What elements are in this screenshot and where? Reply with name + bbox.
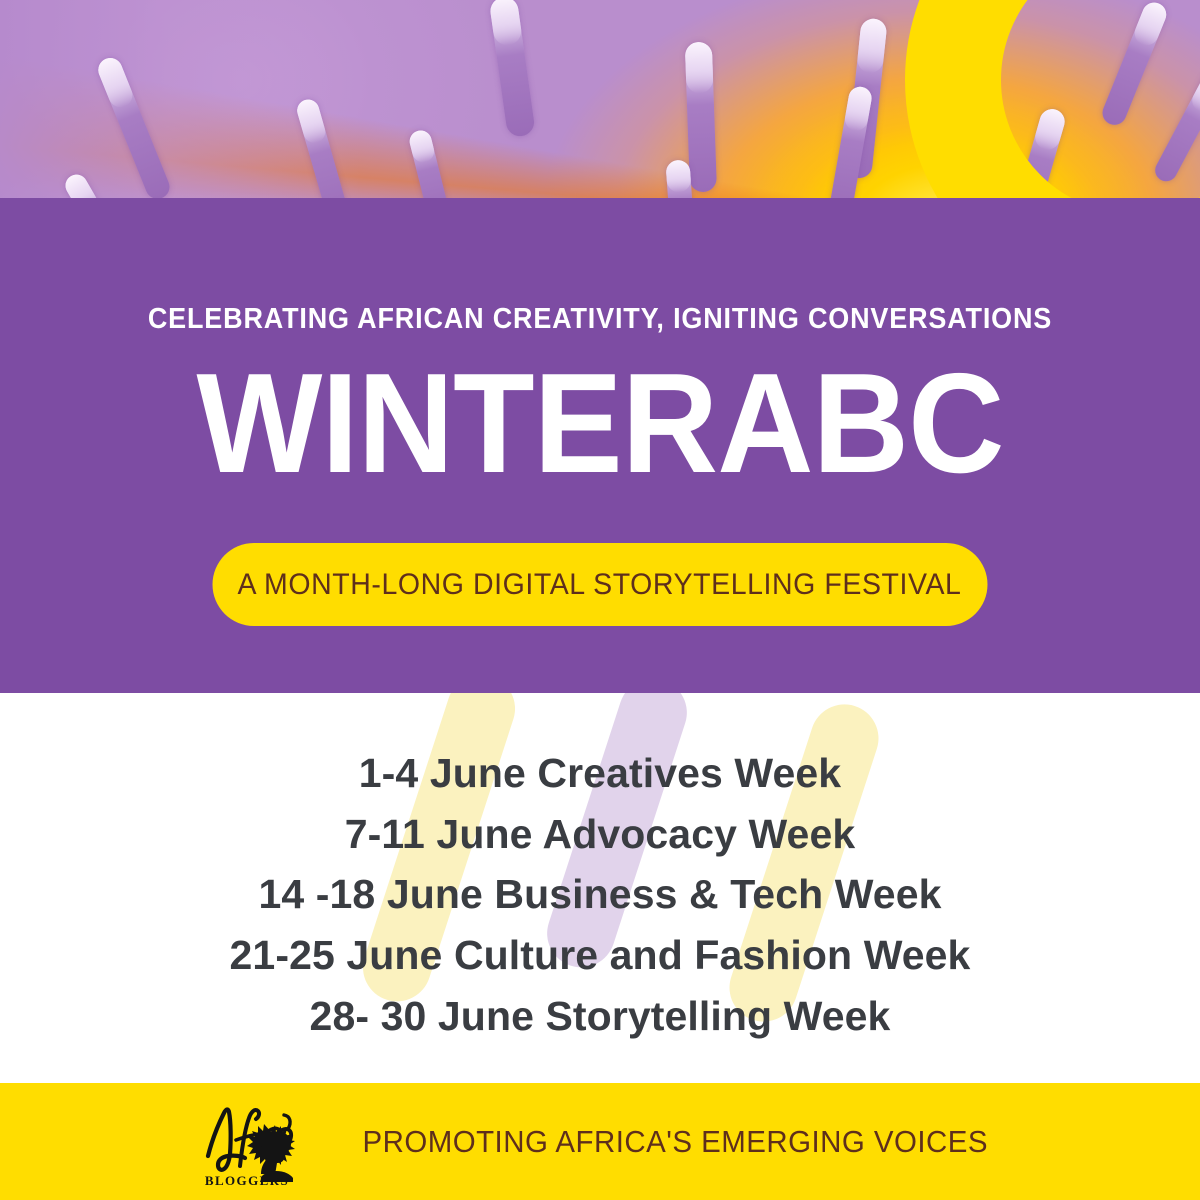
schedule-item: 21-25 June Culture and Fashion Week [0, 925, 1200, 986]
afrobloggers-logo: BLOGGERS [196, 1096, 298, 1188]
tagline: CELEBRATING AFRICAN CREATIVITY, IGNITING… [42, 303, 1158, 336]
logo-bloggers-text: BLOGGERS [205, 1173, 289, 1188]
festival-pill-label: A MONTH-LONG DIGITAL STORYTELLING FESTIV… [238, 568, 962, 602]
hero-flower-photo [0, 0, 1200, 200]
schedule-list: 1-4 June Creatives Week 7-11 June Advoca… [0, 743, 1200, 1046]
footer-slogan: PROMOTING AFRICA'S EMERGING VOICES [362, 1124, 988, 1160]
schedule-section: 1-4 June Creatives Week 7-11 June Advoca… [0, 693, 1200, 1083]
poster-canvas: CELEBRATING AFRICAN CREATIVITY, IGNITING… [0, 0, 1200, 1200]
festival-pill-badge: A MONTH-LONG DIGITAL STORYTELLING FESTIV… [213, 543, 988, 626]
schedule-item: 28- 30 June Storytelling Week [0, 986, 1200, 1047]
header-band: CELEBRATING AFRICAN CREATIVITY, IGNITING… [0, 198, 1200, 693]
page-title: WINTERABC [36, 353, 1164, 495]
footer-bar: BLOGGERS PROMOTING AFRICA'S EMERGING VOI… [0, 1083, 1200, 1200]
schedule-item: 14 -18 June Business & Tech Week [0, 864, 1200, 925]
schedule-item: 1-4 June Creatives Week [0, 743, 1200, 804]
photo-left-violet-veil [0, 0, 1200, 200]
schedule-item: 7-11 June Advocacy Week [0, 804, 1200, 865]
